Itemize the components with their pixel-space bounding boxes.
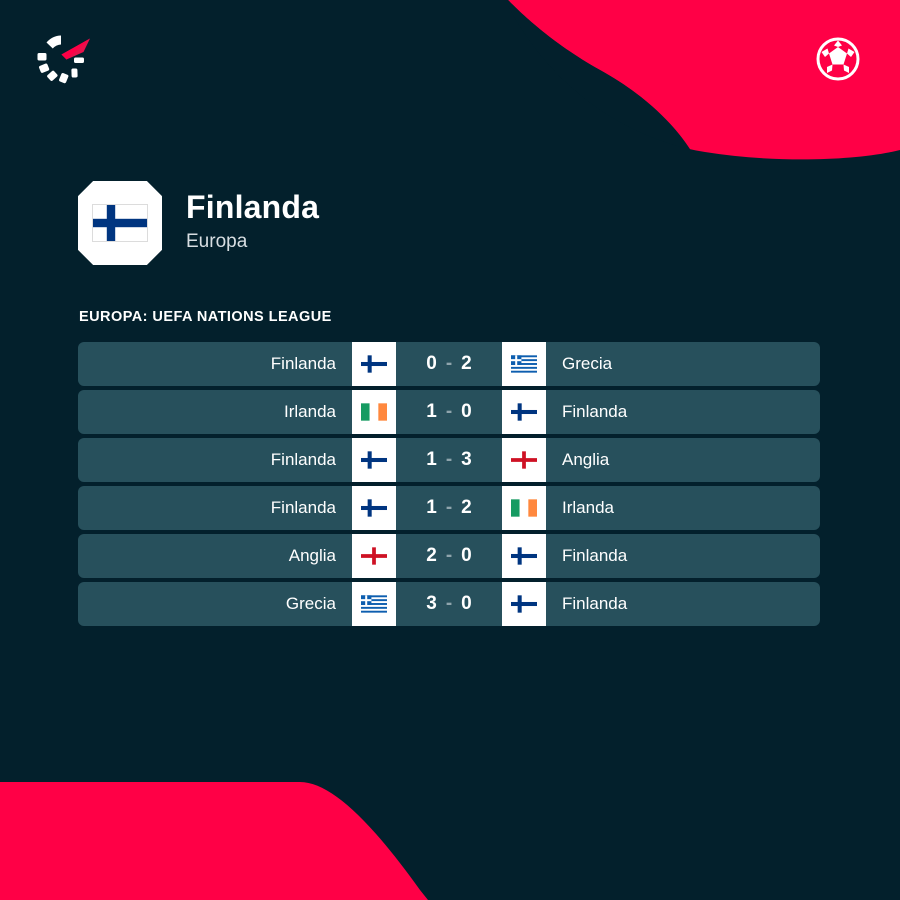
score-separator: - bbox=[446, 449, 452, 471]
match-score: 0-2 bbox=[396, 342, 502, 386]
home-finland-flag-icon bbox=[352, 438, 396, 482]
home-england-flag-icon bbox=[352, 534, 396, 578]
finland-flag-icon bbox=[93, 205, 147, 241]
match-row[interactable]: Finlanda1-2Irlanda bbox=[78, 486, 820, 530]
match-row[interactable]: Grecia3-0Finlanda bbox=[78, 582, 820, 626]
score-separator: - bbox=[446, 593, 452, 615]
home-score: 1 bbox=[426, 401, 437, 423]
competition-label: EUROPA: UEFA NATIONS LEAGUE bbox=[79, 309, 332, 325]
away-finland-flag-icon bbox=[502, 534, 546, 578]
home-ireland-flag-icon bbox=[352, 390, 396, 434]
team-badge bbox=[78, 181, 162, 265]
away-england-flag-icon bbox=[502, 438, 546, 482]
away-score: 0 bbox=[461, 593, 472, 615]
home-team-name: Finlanda bbox=[78, 486, 352, 530]
home-team-name: Irlanda bbox=[78, 390, 352, 434]
match-score: 1-2 bbox=[396, 486, 502, 530]
home-finland-flag-icon bbox=[352, 342, 396, 386]
away-score: 0 bbox=[461, 545, 472, 567]
match-score: 2-0 bbox=[396, 534, 502, 578]
match-list: Finlanda0-2GreciaIrlanda1-0FinlandaFinla… bbox=[78, 342, 820, 630]
football-icon bbox=[814, 35, 862, 83]
home-score: 2 bbox=[426, 545, 437, 567]
team-region: Europa bbox=[186, 228, 319, 257]
score-separator: - bbox=[446, 353, 452, 375]
home-score: 3 bbox=[426, 593, 437, 615]
away-finland-flag-icon bbox=[502, 390, 546, 434]
away-score: 3 bbox=[461, 449, 472, 471]
decoration-bottom-left bbox=[0, 740, 470, 900]
away-greece-flag-icon bbox=[502, 342, 546, 386]
home-team-name: Finlanda bbox=[78, 438, 352, 482]
match-score: 3-0 bbox=[396, 582, 502, 626]
home-score: 1 bbox=[426, 497, 437, 519]
away-team-name: Anglia bbox=[546, 438, 820, 482]
match-score: 1-0 bbox=[396, 390, 502, 434]
away-score: 2 bbox=[461, 497, 472, 519]
flashscore-logo[interactable] bbox=[28, 26, 100, 88]
screen-root: Finlanda Europa EUROPA: UEFA NATIONS LEA… bbox=[0, 0, 900, 900]
away-team-name: Finlanda bbox=[546, 390, 820, 434]
home-score: 0 bbox=[426, 353, 437, 375]
away-team-name: Finlanda bbox=[546, 582, 820, 626]
score-separator: - bbox=[446, 497, 452, 519]
score-separator: - bbox=[446, 545, 452, 567]
away-finland-flag-icon bbox=[502, 582, 546, 626]
home-greece-flag-icon bbox=[352, 582, 396, 626]
away-team-name: Grecia bbox=[546, 342, 820, 386]
away-team-name: Irlanda bbox=[546, 486, 820, 530]
team-header: Finlanda Europa bbox=[78, 181, 319, 265]
decoration-top-right bbox=[480, 0, 900, 180]
team-text: Finlanda Europa bbox=[186, 190, 319, 256]
page-title: Finlanda bbox=[186, 190, 319, 226]
away-ireland-flag-icon bbox=[502, 486, 546, 530]
home-team-name: Finlanda bbox=[78, 342, 352, 386]
home-score: 1 bbox=[426, 449, 437, 471]
home-finland-flag-icon bbox=[352, 486, 396, 530]
match-row[interactable]: Finlanda0-2Grecia bbox=[78, 342, 820, 386]
away-team-name: Finlanda bbox=[546, 534, 820, 578]
match-row[interactable]: Finlanda1-3Anglia bbox=[78, 438, 820, 482]
away-score: 0 bbox=[461, 401, 472, 423]
score-separator: - bbox=[446, 401, 452, 423]
match-row[interactable]: Anglia2-0Finlanda bbox=[78, 534, 820, 578]
home-team-name: Grecia bbox=[78, 582, 352, 626]
away-score: 2 bbox=[461, 353, 472, 375]
home-team-name: Anglia bbox=[78, 534, 352, 578]
match-score: 1-3 bbox=[396, 438, 502, 482]
match-row[interactable]: Irlanda1-0Finlanda bbox=[78, 390, 820, 434]
